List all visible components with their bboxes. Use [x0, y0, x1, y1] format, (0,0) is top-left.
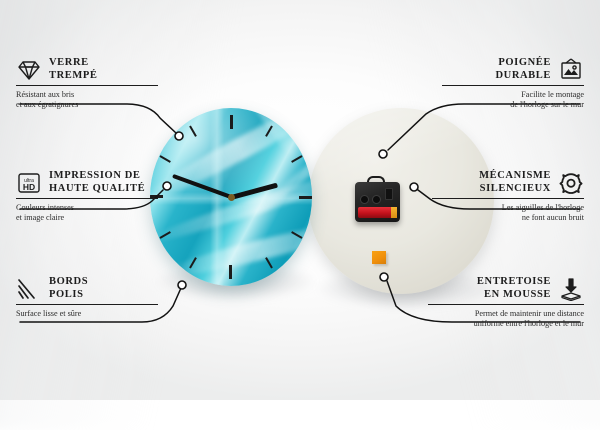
- mechanism-screw: [385, 188, 393, 200]
- gear-icon: [558, 171, 584, 195]
- callout-rule: [16, 85, 158, 86]
- callout-poignee-durable: POIGNÉEDURABLE Facilite le montagede l'h…: [442, 57, 584, 110]
- mechanism-dial-left: [360, 195, 369, 204]
- picture-frame-icon: [558, 58, 584, 82]
- callout-impression-haute-qualite: ultra HD IMPRESSION DEHAUTE QUALITÉ Coul…: [16, 170, 158, 223]
- clock-tick: [150, 196, 230, 198]
- clock-face: [150, 108, 312, 286]
- diamond-icon: [16, 58, 42, 82]
- callout-desc-line1: Couleurs intenses: [16, 203, 74, 212]
- ultra-hd-icon: ultra HD: [16, 171, 42, 195]
- callout-rule: [432, 198, 584, 199]
- quartz-mechanism: [355, 182, 400, 222]
- callout-title-line1: POIGNÉE: [498, 57, 551, 68]
- callout-title-line2: EN MOUSSE: [484, 289, 551, 300]
- callout-bords-polis: BORDSPOLIS Surface lisse et sûre: [16, 276, 158, 319]
- callout-title-line2: POLIS: [49, 289, 84, 300]
- callout-title-line2: TREMPÉ: [49, 70, 98, 81]
- callout-title-line2: SILENCIEUX: [480, 183, 551, 194]
- polished-edge-icon: [16, 277, 42, 301]
- clock-tick: [230, 198, 232, 286]
- callout-title-line1: ENTRETOISE: [477, 276, 551, 287]
- mechanism-dial-right: [372, 195, 381, 204]
- callout-desc-line2: et aux égratignures: [16, 100, 78, 109]
- clock-tick: [230, 108, 232, 196]
- callout-rule: [442, 85, 584, 86]
- callout-desc-line2: uniforme entre l'horloge et le mur: [474, 319, 584, 328]
- callout-title-line1: BORDS: [49, 276, 88, 287]
- foam-spacer-pad: [372, 251, 386, 264]
- callout-verre-trempe: VERRETREMPÉ Résistant aux briset aux égr…: [16, 57, 158, 110]
- clock-center-cap: [228, 194, 235, 201]
- callout-rule: [428, 304, 584, 305]
- foam-spacer-icon: [558, 277, 584, 301]
- callout-desc-line2: de l'horloge sur le mur: [510, 100, 584, 109]
- callout-entretoise-en-mousse: ENTRETOISEEN MOUSSE Permet de maintenir …: [428, 276, 584, 329]
- callout-title-line1: IMPRESSION DE: [49, 170, 141, 181]
- callout-rule: [16, 198, 158, 199]
- callout-title-line1: VERRE: [49, 57, 89, 68]
- callout-mecanisme-silencieux: MÉCANISMESILENCIEUX Les aiguilles de l'h…: [432, 170, 584, 223]
- callout-desc-line1: Surface lisse et sûre: [16, 309, 81, 318]
- callout-title-line1: MÉCANISME: [479, 170, 551, 181]
- callout-desc-line1: Les aiguilles de l'horloge: [502, 203, 584, 212]
- callout-title-line2: HAUTE QUALITÉ: [49, 183, 145, 194]
- callout-desc-line2: ne font aucun bruit: [522, 213, 584, 222]
- callout-desc-line1: Résistant aux bris: [16, 90, 74, 99]
- svg-text:HD: HD: [23, 182, 35, 192]
- battery: [358, 207, 397, 218]
- callout-title-line2: DURABLE: [495, 70, 551, 81]
- callout-desc-line2: et image claire: [16, 213, 64, 222]
- callout-desc-line1: Facilite le montage: [521, 90, 584, 99]
- callout-desc-line1: Permet de maintenir une distance: [475, 309, 584, 318]
- callout-rule: [16, 304, 158, 305]
